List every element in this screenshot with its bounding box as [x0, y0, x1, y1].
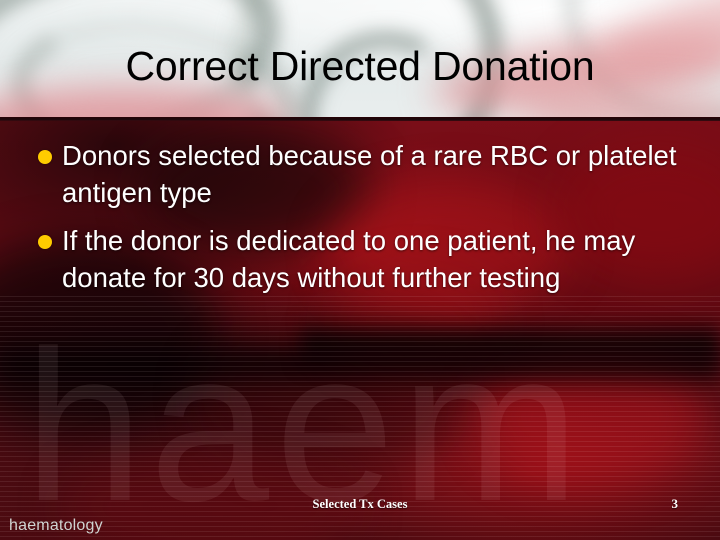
bullet-list-item-text: Donors selected because of a rare RBC or…: [62, 140, 677, 208]
brand-label: haematology: [9, 516, 103, 536]
bullet-list-item-text: If the donor is dedicated to one patient…: [62, 225, 635, 293]
bullet-dot-icon: [38, 235, 52, 249]
footer-title: Selected Tx Cases: [0, 497, 720, 512]
presentation-slide: haem Correct Directed Donation Donors se…: [0, 0, 720, 540]
bullet-list-item: If the donor is dedicated to one patient…: [0, 222, 720, 296]
bullet-list-item: Donors selected because of a rare RBC or…: [0, 137, 720, 211]
slide-bullet-list: Donors selected because of a rare RBC or…: [0, 121, 720, 296]
slide-title: Correct Directed Donation: [0, 40, 720, 92]
slide-page-number: 3: [672, 496, 679, 512]
bullet-dot-icon: [38, 150, 52, 164]
